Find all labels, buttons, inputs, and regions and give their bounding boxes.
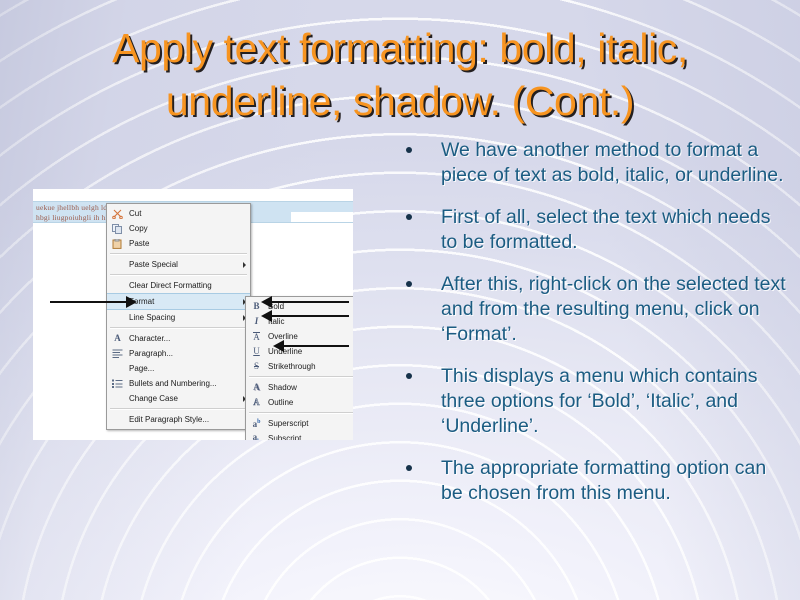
- menu-item-overline[interactable]: A Overline: [246, 329, 353, 344]
- menu-item-label: Paragraph...: [129, 349, 246, 358]
- menu-item-bullets-and-numbering[interactable]: Bullets and Numbering...: [107, 376, 250, 391]
- menu-item-label: Outline: [268, 398, 352, 407]
- menu-item-label: Format: [129, 297, 239, 306]
- menu-separator: [110, 408, 247, 410]
- slide-canvas: Apply text formatting: bold, italic, und…: [0, 0, 800, 600]
- menu-item-label: Copy: [129, 224, 246, 233]
- character-icon: A: [109, 332, 126, 345]
- strikethrough-icon: S: [248, 360, 265, 373]
- blank-icon: [109, 279, 126, 292]
- blank-icon: [109, 258, 126, 271]
- list-item: The appropriate formatting option can be…: [406, 456, 790, 506]
- menu-item-edit-paragraph-style[interactable]: Edit Paragraph Style...: [107, 412, 250, 427]
- arrow-shaft: [50, 301, 128, 303]
- menu-item-change-case[interactable]: Change Case: [107, 391, 250, 406]
- menu-item-label: Shadow: [268, 383, 352, 392]
- menu-item-character[interactable]: A Character...: [107, 331, 250, 346]
- bullet-point-icon: [406, 281, 412, 287]
- copy-icon: [109, 222, 126, 235]
- menu-item-cut[interactable]: Cut: [107, 206, 250, 221]
- menu-separator: [110, 327, 247, 329]
- list-item: After this, right-click on the selected …: [406, 272, 790, 347]
- bullet-point-icon: [406, 214, 412, 220]
- menu-item-label: Character...: [129, 334, 246, 343]
- menu-item-label: Italic: [268, 317, 352, 326]
- list-item: This displays a menu which contains thre…: [406, 364, 790, 439]
- menu-item-label: Paste Special: [129, 260, 239, 269]
- context-menu[interactable]: Cut Copy Paste Paste Special: [106, 203, 251, 430]
- subscript-icon: ab: [248, 432, 265, 440]
- superscript-icon: ab: [248, 417, 265, 430]
- paste-icon: [109, 237, 126, 250]
- blank-icon: [109, 311, 126, 324]
- menu-item-shadow[interactable]: A Shadow: [246, 380, 353, 395]
- bullet-point-icon: [406, 147, 412, 153]
- menu-item-line-spacing[interactable]: Line Spacing: [107, 310, 250, 325]
- underline-icon: U: [248, 345, 265, 358]
- menu-item-outline[interactable]: A Outline: [246, 395, 353, 410]
- bullet-text: This displays a menu which contains thre…: [441, 364, 790, 439]
- menu-item-superscript[interactable]: ab Superscript: [246, 416, 353, 431]
- overline-icon: A: [248, 330, 265, 343]
- menu-item-label: Bullets and Numbering...: [129, 379, 246, 388]
- menu-item-strikethrough[interactable]: S Strikethrough: [246, 359, 353, 374]
- menu-item-clear-direct-formatting[interactable]: Clear Direct Formatting: [107, 278, 250, 293]
- menu-separator: [110, 274, 247, 276]
- menu-item-copy[interactable]: Copy: [107, 221, 250, 236]
- menu-item-paragraph[interactable]: Paragraph...: [107, 346, 250, 361]
- bullet-text: We have another method to format a piece…: [441, 138, 790, 188]
- menu-item-label: Change Case: [129, 394, 239, 403]
- menu-item-page[interactable]: Page...: [107, 361, 250, 376]
- menu-separator: [110, 253, 247, 255]
- blank-icon: [109, 362, 126, 375]
- menu-item-paste[interactable]: Paste: [107, 236, 250, 251]
- bullet-text: First of all, select the text which need…: [441, 205, 790, 255]
- submenu-arrow-icon: [243, 262, 246, 268]
- menu-item-label: Cut: [129, 209, 246, 218]
- menu-item-label: Subscript: [268, 434, 352, 440]
- paragraph-icon: [109, 347, 126, 360]
- menu-item-label: Strikethrough: [268, 362, 352, 371]
- slide-title: Apply text formatting: bold, italic, und…: [18, 22, 782, 128]
- arrow-shaft: [284, 345, 349, 347]
- menu-item-label: Bold: [268, 302, 352, 311]
- menu-separator: [249, 412, 353, 414]
- bullet-point-icon: [406, 373, 412, 379]
- outline-icon: A: [248, 396, 265, 409]
- bullet-point-icon: [406, 465, 412, 471]
- arrow-head-icon: [273, 340, 284, 352]
- menu-item-label: Clear Direct Formatting: [129, 281, 246, 290]
- blank-icon: [109, 392, 126, 405]
- arrow-head-icon: [126, 296, 137, 308]
- list-item: We have another method to format a piece…: [406, 138, 790, 188]
- menu-item-label: Page...: [129, 364, 246, 373]
- blank-icon: [109, 413, 126, 426]
- arrow-shaft: [272, 301, 349, 303]
- bullets-icon: [109, 377, 126, 390]
- bullet-text: After this, right-click on the selected …: [441, 272, 790, 347]
- menu-item-label: Superscript: [268, 419, 352, 428]
- menu-separator: [249, 376, 353, 378]
- list-item: First of all, select the text which need…: [406, 205, 790, 255]
- arrow-head-icon: [261, 296, 272, 308]
- menu-item-label: Paste: [129, 239, 246, 248]
- scissors-icon: [109, 207, 126, 220]
- shadow-icon: A: [248, 381, 265, 394]
- bullet-text: The appropriate formatting option can be…: [441, 456, 790, 506]
- menu-item-label: Edit Paragraph Style...: [129, 415, 246, 424]
- menu-item-subscript[interactable]: ab Subscript: [246, 431, 353, 440]
- menu-item-label: Line Spacing: [129, 313, 239, 322]
- arrow-head-icon: [261, 310, 272, 322]
- bullet-list: We have another method to format a piece…: [406, 138, 790, 523]
- arrow-shaft: [272, 315, 349, 317]
- menu-item-paste-special[interactable]: Paste Special: [107, 257, 250, 272]
